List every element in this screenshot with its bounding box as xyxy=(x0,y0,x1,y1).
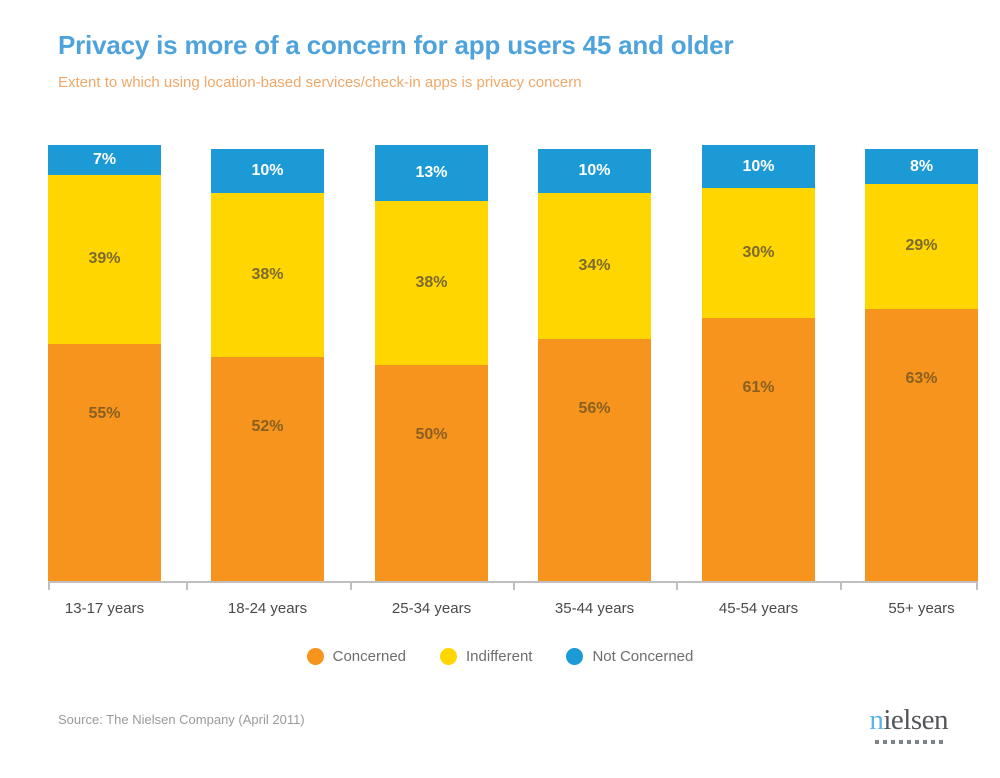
bar-segment-value: 38% xyxy=(415,275,447,291)
x-axis xyxy=(48,581,978,590)
bar-segment-concerned: 56% xyxy=(538,339,651,581)
bar-segment-concerned: 50% xyxy=(375,365,488,581)
bar-segment-value: 10% xyxy=(742,159,774,175)
logo-wordmark: nielsen xyxy=(869,706,948,735)
infographic-chart: Privacy is more of a concern for app use… xyxy=(0,0,1000,778)
bar-segment-not-concerned: 10% xyxy=(702,145,815,188)
bar-segment-value: 55% xyxy=(88,406,120,422)
bar-column: 10%34%56% xyxy=(538,145,651,581)
x-axis-tick-labels: 13-17 years18-24 years25-34 years35-44 y… xyxy=(48,600,978,624)
bar-segment-indifferent: 34% xyxy=(538,193,651,340)
legend-item-not-concerned[interactable]: Not Concerned xyxy=(566,648,693,665)
bar-segment-not-concerned: 7% xyxy=(48,145,161,175)
bar-column: 10%38%52% xyxy=(211,145,324,581)
bar-segment-value: 10% xyxy=(251,163,283,179)
bar-segment-value: 38% xyxy=(251,267,283,283)
bar-segment-value: 8% xyxy=(910,159,933,175)
legend-swatch-icon xyxy=(566,648,583,665)
bar-segment-value: 56% xyxy=(578,401,610,417)
legend-swatch-icon xyxy=(307,648,324,665)
x-axis-tick-label: 35-44 years xyxy=(538,600,651,617)
bar-segment-concerned: 55% xyxy=(48,344,161,581)
logo-dot xyxy=(923,740,927,744)
x-axis-tick xyxy=(186,581,188,590)
legend-item-concerned[interactable]: Concerned xyxy=(307,648,406,665)
bar-segment-value: 34% xyxy=(578,258,610,274)
page-title: Privacy is more of a concern for app use… xyxy=(58,30,733,61)
bar-column: 13%38%50% xyxy=(375,145,488,581)
logo-dot xyxy=(891,740,895,744)
bar-segment-value: 10% xyxy=(578,163,610,179)
legend-item-indifferent[interactable]: Indifferent xyxy=(440,648,532,665)
bar-segment-value: 7% xyxy=(93,152,116,168)
x-axis-tick-label: 45-54 years xyxy=(702,600,815,617)
bar-segment-not-concerned: 10% xyxy=(211,149,324,192)
bar-segment-not-concerned: 8% xyxy=(865,149,978,184)
legend-label: Indifferent xyxy=(466,648,532,665)
bar-segment-indifferent: 38% xyxy=(211,193,324,357)
bar-segment-not-concerned: 10% xyxy=(538,149,651,192)
bar-segment-value: 30% xyxy=(742,245,774,261)
bar-segment-concerned: 61% xyxy=(702,318,815,581)
bar-segment-indifferent: 38% xyxy=(375,201,488,365)
x-axis-tick xyxy=(840,581,842,590)
x-axis-tick-label: 25-34 years xyxy=(375,600,488,617)
x-axis-tick xyxy=(676,581,678,590)
logo-text: ielsen xyxy=(883,704,948,736)
legend-label: Concerned xyxy=(333,648,406,665)
legend-swatch-icon xyxy=(440,648,457,665)
bar-segment-value: 13% xyxy=(415,165,447,181)
logo-initial: n xyxy=(869,704,883,736)
logo-dot xyxy=(899,740,903,744)
bar-segment-indifferent: 39% xyxy=(48,175,161,343)
legend-label: Not Concerned xyxy=(592,648,693,665)
plot-area: 7%39%55%10%38%52%13%38%50%10%34%56%10%30… xyxy=(48,145,978,581)
bar-segment-value: 63% xyxy=(905,371,937,387)
bar-segment-value: 50% xyxy=(415,427,447,443)
x-axis-tick-label: 18-24 years xyxy=(211,600,324,617)
bar-column: 10%30%61% xyxy=(702,145,815,581)
bar-column: 8%29%63% xyxy=(865,145,978,581)
x-axis-tick-label: 13-17 years xyxy=(48,600,161,617)
bar-segment-indifferent: 29% xyxy=(865,184,978,309)
bar-column: 7%39%55% xyxy=(48,145,161,581)
bar-segment-value: 61% xyxy=(742,380,774,396)
chart-subtitle: Extent to which using location-based ser… xyxy=(58,74,582,91)
logo-dot xyxy=(939,740,943,744)
bar-segment-value: 52% xyxy=(251,419,283,435)
logo-dots xyxy=(869,740,948,744)
chart-legend: ConcernedIndifferentNot Concerned xyxy=(0,648,1000,665)
x-axis-tick-label: 55+ years xyxy=(865,600,978,617)
nielsen-logo: nielsen xyxy=(869,706,948,744)
logo-dot xyxy=(883,740,887,744)
bar-segment-not-concerned: 13% xyxy=(375,145,488,201)
x-axis-tick xyxy=(48,581,50,590)
x-axis-tick xyxy=(513,581,515,590)
bar-segment-concerned: 63% xyxy=(865,309,978,581)
source-note: Source: The Nielsen Company (April 2011) xyxy=(58,712,305,727)
bar-segment-value: 39% xyxy=(88,251,120,267)
logo-dot xyxy=(875,740,879,744)
bar-segment-value: 29% xyxy=(905,238,937,254)
logo-dot xyxy=(931,740,935,744)
x-axis-tick xyxy=(976,581,978,590)
x-axis-tick xyxy=(350,581,352,590)
logo-dot xyxy=(907,740,911,744)
logo-dot xyxy=(915,740,919,744)
bar-segment-concerned: 52% xyxy=(211,357,324,581)
bar-segment-indifferent: 30% xyxy=(702,188,815,318)
